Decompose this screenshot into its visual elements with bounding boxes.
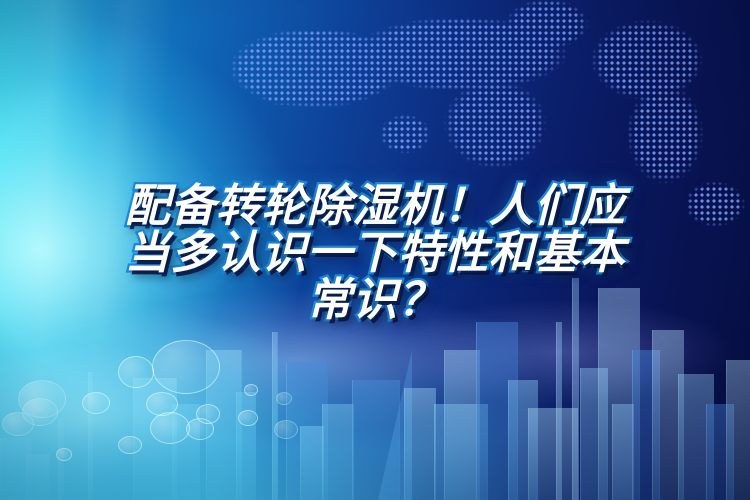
headline-line-3: 常识？ (0, 276, 750, 323)
headline-line-1: 配备转轮除湿机！人们应 (0, 182, 750, 229)
banner-headline: 配备转轮除湿机！人们应 当多认识一下特性和基本 常识？ (0, 182, 750, 323)
headline-line-2: 当多认识一下特性和基本 (0, 229, 750, 276)
banner-image: 配备转轮除湿机！人们应 当多认识一下特性和基本 常识？ (0, 0, 750, 500)
